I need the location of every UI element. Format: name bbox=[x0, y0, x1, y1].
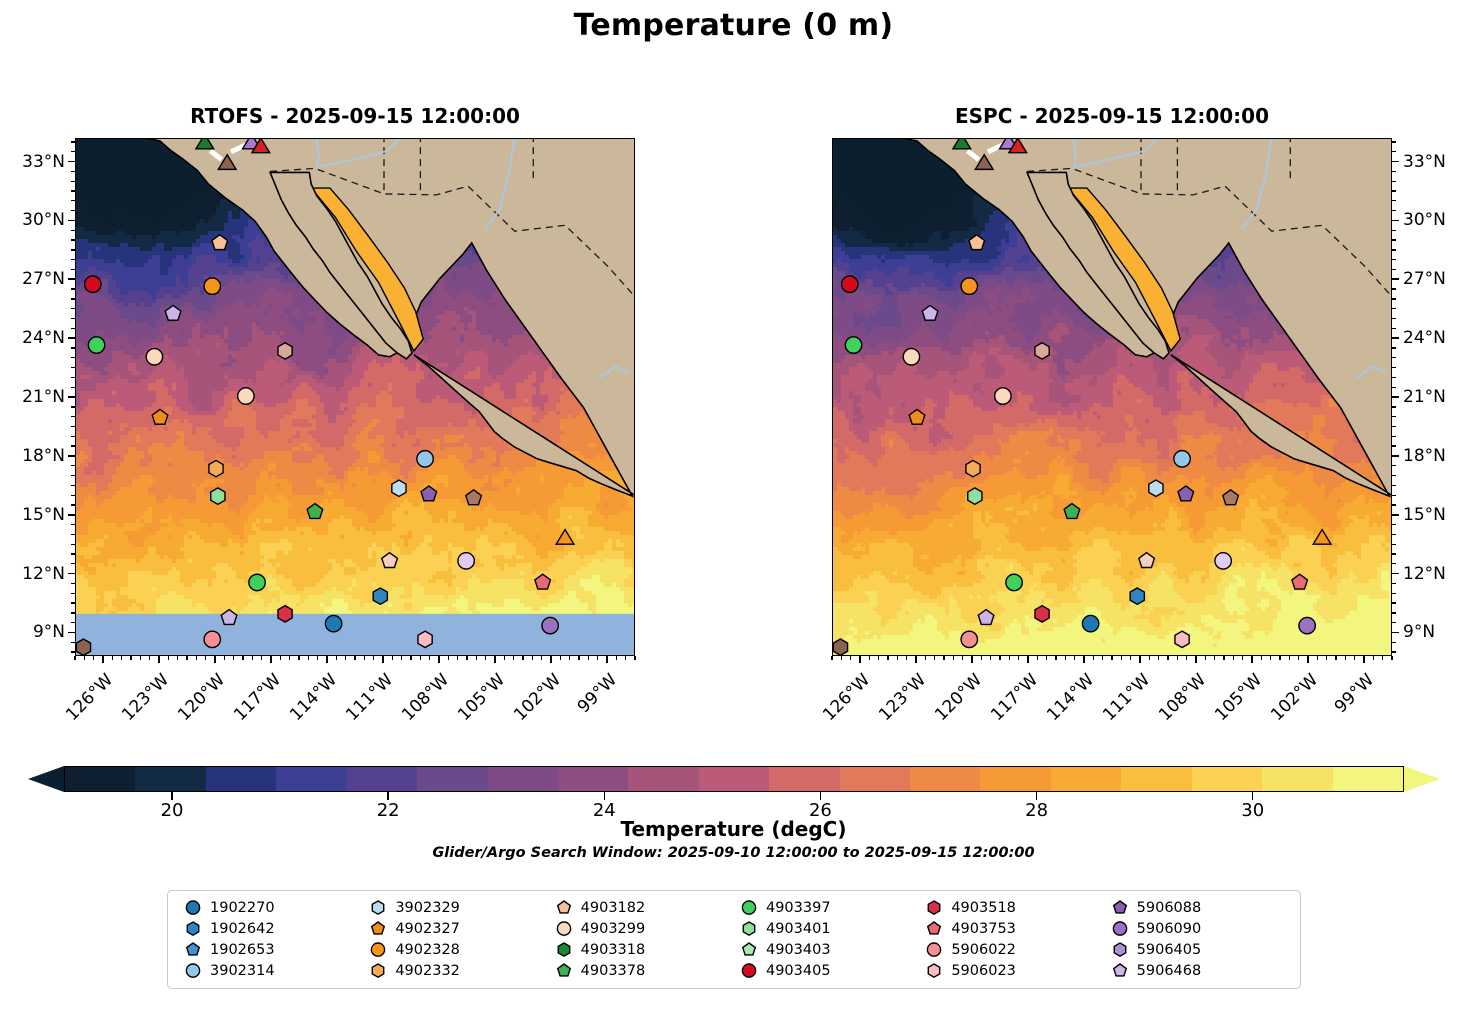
y-tick-label-left-1: 30°N bbox=[0, 210, 65, 230]
map-marker[interactable] bbox=[88, 337, 104, 353]
map-marker[interactable] bbox=[392, 480, 406, 496]
legend-item-5906023[interactable]: 5906023 bbox=[919, 961, 1104, 980]
tick-mark bbox=[71, 210, 75, 211]
tick-mark bbox=[1392, 357, 1396, 358]
tick-mark bbox=[1392, 328, 1396, 329]
map-marker[interactable] bbox=[1175, 631, 1189, 647]
colorbar-segment-11 bbox=[840, 767, 910, 791]
x-tick-label-left-2: 120°W bbox=[174, 670, 229, 725]
tick-mark bbox=[71, 553, 75, 554]
legend-label: 4903753 bbox=[949, 921, 1016, 937]
tick-mark bbox=[71, 288, 75, 289]
tick-mark bbox=[102, 656, 104, 663]
tick-mark bbox=[68, 632, 75, 634]
legend-label: 4902328 bbox=[393, 942, 460, 958]
x-tick-label-right-8: 102°W bbox=[1267, 670, 1322, 725]
tick-mark bbox=[336, 656, 337, 660]
tick-mark bbox=[1392, 553, 1396, 554]
tick-mark bbox=[71, 583, 75, 584]
tick-mark bbox=[457, 656, 458, 660]
figure-title: Temperature (0 m) bbox=[0, 8, 1467, 43]
legend-item-4903318[interactable]: 4903318 bbox=[549, 940, 734, 959]
legend-item-4903378[interactable]: 4903378 bbox=[549, 961, 734, 980]
colorbar-segment-18 bbox=[1333, 767, 1403, 791]
tick-mark bbox=[1392, 220, 1399, 222]
tick-mark bbox=[1242, 656, 1243, 660]
legend-marker-icon bbox=[1105, 919, 1135, 938]
tick-mark bbox=[71, 436, 75, 437]
tick-mark bbox=[429, 656, 430, 660]
colorbar-segment-15 bbox=[1121, 767, 1191, 791]
legend-item-4902332[interactable]: 4902332 bbox=[363, 961, 548, 980]
tick-mark bbox=[71, 651, 75, 652]
tick-mark bbox=[1392, 465, 1396, 466]
legend-label: 1902642 bbox=[208, 921, 275, 937]
tick-mark bbox=[541, 656, 542, 660]
map-marker[interactable] bbox=[209, 460, 223, 476]
map-marker[interactable] bbox=[845, 337, 861, 353]
tick-mark bbox=[196, 656, 197, 660]
legend-item-5906090[interactable]: 5906090 bbox=[1105, 919, 1290, 938]
tick-mark bbox=[1392, 651, 1396, 652]
y-tick-label-left-2: 27°N bbox=[0, 269, 65, 289]
legend-marker-icon bbox=[549, 961, 579, 980]
tick-mark bbox=[1392, 475, 1396, 476]
tick-mark bbox=[578, 656, 579, 660]
map-panel-espc[interactable] bbox=[832, 138, 1392, 656]
colorbar-segment-0 bbox=[65, 767, 135, 791]
legend-marker-icon bbox=[178, 940, 208, 959]
tick-mark bbox=[71, 151, 75, 152]
tick-mark bbox=[68, 396, 75, 398]
tick-mark bbox=[186, 656, 187, 660]
legend-item-4903397[interactable]: 4903397 bbox=[734, 898, 919, 917]
map-marker[interactable] bbox=[1174, 451, 1190, 467]
tick-mark bbox=[71, 328, 75, 329]
tick-mark bbox=[71, 298, 75, 299]
x-tick-label-right-5: 111°W bbox=[1099, 670, 1154, 725]
tick-mark bbox=[869, 656, 870, 660]
tick-mark bbox=[1354, 656, 1355, 660]
tick-mark bbox=[177, 656, 178, 660]
legend-item-1902270[interactable]: 1902270 bbox=[178, 898, 363, 917]
legend-marker-icon bbox=[363, 898, 393, 917]
tick-mark bbox=[485, 656, 486, 660]
tick-mark bbox=[1392, 141, 1396, 142]
colorbar-segment-3 bbox=[276, 767, 346, 791]
tick-mark bbox=[915, 656, 917, 663]
tick-mark bbox=[1392, 612, 1396, 613]
tick-mark bbox=[1139, 656, 1141, 663]
tick-mark bbox=[71, 200, 75, 201]
legend-label: 4903299 bbox=[579, 921, 646, 937]
y-tick-label-right-0: 33°N bbox=[1403, 152, 1446, 172]
legend-item-1902642[interactable]: 1902642 bbox=[178, 919, 363, 938]
tick-mark bbox=[308, 656, 309, 660]
tick-mark bbox=[1392, 622, 1396, 623]
legend-label: 4902332 bbox=[393, 963, 460, 979]
tick-mark bbox=[1167, 656, 1168, 660]
map-marker[interactable] bbox=[325, 615, 341, 631]
tick-mark bbox=[93, 656, 94, 660]
legend-marker-icon bbox=[363, 919, 393, 938]
y-tick-label-right-6: 15°N bbox=[1403, 505, 1446, 525]
y-tick-label-left-7: 12°N bbox=[0, 564, 65, 584]
tick-mark bbox=[981, 656, 982, 660]
map-marker[interactable] bbox=[204, 278, 220, 294]
legend-marker-icon bbox=[178, 919, 208, 938]
colorbar-segment-1 bbox=[135, 767, 205, 791]
tick-mark bbox=[588, 656, 589, 660]
tick-mark bbox=[71, 642, 75, 643]
colorbar-tick bbox=[387, 792, 389, 800]
tick-mark bbox=[71, 445, 75, 446]
tick-mark bbox=[71, 534, 75, 535]
tick-mark bbox=[1392, 455, 1399, 457]
tick-mark bbox=[354, 656, 355, 660]
x-tick-label-right-7: 105°W bbox=[1211, 670, 1266, 725]
tick-mark bbox=[71, 259, 75, 260]
tick-mark bbox=[71, 249, 75, 250]
x-tick-label-right-6: 108°W bbox=[1155, 670, 1210, 725]
legend-label: 5906088 bbox=[1135, 900, 1202, 916]
tick-mark bbox=[1392, 249, 1396, 250]
tick-mark bbox=[597, 656, 598, 660]
tick-mark bbox=[270, 656, 272, 663]
tick-mark bbox=[1195, 656, 1197, 663]
tick-mark bbox=[1261, 656, 1262, 660]
legend-item-4903299[interactable]: 4903299 bbox=[549, 919, 734, 938]
tick-mark bbox=[149, 656, 150, 660]
tick-mark bbox=[1363, 656, 1365, 663]
tick-mark bbox=[1392, 337, 1399, 339]
tick-mark bbox=[1298, 656, 1299, 660]
legend-label: 4902327 bbox=[393, 921, 460, 937]
x-tick-label-left-9: 99°W bbox=[566, 670, 621, 725]
colorbar-segment-12 bbox=[910, 767, 980, 791]
legend-item-4902328[interactable]: 4902328 bbox=[363, 940, 548, 959]
legend-marker-icon bbox=[363, 940, 393, 959]
tick-mark bbox=[71, 230, 75, 231]
legend-marker-icon bbox=[178, 961, 208, 980]
tick-mark bbox=[205, 656, 206, 660]
colorbar-segment-7 bbox=[558, 767, 628, 791]
y-tick-label-right-4: 21°N bbox=[1403, 387, 1446, 407]
legend-item-3902329[interactable]: 3902329 bbox=[363, 898, 548, 917]
tick-mark bbox=[1205, 656, 1206, 660]
x-tick-label-right-3: 117°W bbox=[987, 670, 1042, 725]
map-marker[interactable] bbox=[968, 488, 982, 504]
legend-label: 4903405 bbox=[764, 963, 831, 979]
map-marker[interactable] bbox=[1006, 574, 1022, 590]
legend-marker-icon bbox=[1105, 898, 1135, 917]
tick-mark bbox=[1392, 308, 1396, 309]
map-marker[interactable] bbox=[1299, 617, 1315, 633]
tick-mark bbox=[71, 406, 75, 407]
tick-mark bbox=[569, 656, 570, 660]
tick-mark bbox=[1373, 656, 1374, 660]
map-marker[interactable] bbox=[458, 553, 474, 569]
map-marker[interactable] bbox=[1082, 615, 1098, 631]
map-marker[interactable] bbox=[1035, 606, 1049, 622]
tick-mark bbox=[68, 514, 75, 516]
tick-mark bbox=[1335, 656, 1336, 660]
tick-mark bbox=[242, 656, 243, 660]
tick-mark bbox=[68, 573, 75, 575]
tick-mark bbox=[504, 656, 505, 660]
colorbar[interactable] bbox=[28, 766, 1440, 792]
legend-label: 1902653 bbox=[208, 942, 275, 958]
legend-label: 4903182 bbox=[579, 900, 646, 916]
y-tick-label-right-1: 30°N bbox=[1403, 210, 1446, 230]
panel-title-espc: ESPC - 2025-09-15 12:00:00 bbox=[832, 104, 1392, 128]
legend-item-4903518[interactable]: 4903518 bbox=[919, 898, 1104, 917]
tick-mark bbox=[1392, 534, 1396, 535]
map-marker[interactable] bbox=[842, 276, 858, 292]
tick-mark bbox=[1392, 495, 1396, 496]
map-marker[interactable] bbox=[542, 617, 558, 633]
legend-label: 4903378 bbox=[579, 963, 646, 979]
y-tick-label-left-0: 33°N bbox=[0, 152, 65, 172]
y-tick-label-left-8: 9°N bbox=[0, 622, 65, 642]
tick-mark bbox=[326, 656, 328, 663]
tick-mark bbox=[71, 387, 75, 388]
tick-mark bbox=[1392, 278, 1399, 280]
tick-mark bbox=[1289, 656, 1290, 660]
tick-mark bbox=[71, 171, 75, 172]
tick-mark bbox=[971, 656, 973, 663]
legend-item-4903403[interactable]: 4903403 bbox=[734, 940, 919, 959]
x-tick-label-left-1: 123°W bbox=[118, 670, 173, 725]
tick-mark bbox=[466, 656, 467, 660]
tick-mark bbox=[1392, 544, 1396, 545]
tick-mark bbox=[831, 656, 832, 660]
legend-label: 4903518 bbox=[949, 900, 1016, 916]
x-tick-label-left-3: 117°W bbox=[230, 670, 285, 725]
marker-legend[interactable]: 1902270390232949031824903397490351859060… bbox=[167, 890, 1301, 989]
tick-mark bbox=[392, 656, 393, 660]
legend-item-4903401[interactable]: 4903401 bbox=[734, 919, 919, 938]
y-tick-label-left-5: 18°N bbox=[0, 446, 65, 466]
tick-mark bbox=[925, 656, 926, 660]
map-panel-rtofs[interactable] bbox=[75, 138, 635, 656]
tick-mark bbox=[71, 475, 75, 476]
tick-mark bbox=[1392, 406, 1396, 407]
legend-label: 5906022 bbox=[949, 942, 1016, 958]
tick-mark bbox=[410, 656, 411, 660]
legend-marker-icon bbox=[734, 898, 764, 917]
tick-mark bbox=[1074, 656, 1075, 660]
y-tick-label-left-4: 21°N bbox=[0, 387, 65, 407]
tick-mark bbox=[1317, 656, 1318, 660]
legend-marker-icon bbox=[919, 961, 949, 980]
map-marker[interactable] bbox=[85, 276, 101, 292]
map-marker[interactable] bbox=[278, 606, 292, 622]
tick-mark bbox=[1055, 656, 1056, 660]
legend-marker-icon bbox=[734, 961, 764, 980]
colorbar-caption: Glider/Argo Search Window: 2025-09-10 12… bbox=[0, 845, 1467, 861]
legend-label: 5906405 bbox=[1135, 942, 1202, 958]
tick-mark bbox=[1392, 563, 1396, 564]
y-tick-label-right-8: 9°N bbox=[1403, 622, 1435, 642]
tick-mark bbox=[943, 656, 944, 660]
x-tick-label-right-1: 123°W bbox=[875, 670, 930, 725]
legend-item-5906022[interactable]: 5906022 bbox=[919, 940, 1104, 959]
tick-mark bbox=[906, 656, 907, 660]
colorbar-segment-8 bbox=[628, 767, 698, 791]
tick-mark bbox=[494, 656, 496, 663]
colorbar-segment-16 bbox=[1192, 767, 1262, 791]
tick-mark bbox=[68, 455, 75, 457]
map-marker[interactable] bbox=[1149, 480, 1163, 496]
tick-mark bbox=[71, 544, 75, 545]
tick-mark bbox=[1149, 656, 1150, 660]
y-tick-label-left-3: 24°N bbox=[0, 328, 65, 348]
legend-label: 4903397 bbox=[764, 900, 831, 916]
map-marker[interactable] bbox=[211, 488, 225, 504]
legend-item-4902327[interactable]: 4902327 bbox=[363, 919, 548, 938]
y-tick-label-right-5: 18°N bbox=[1403, 446, 1446, 466]
tick-mark bbox=[897, 656, 898, 660]
legend-marker-icon bbox=[178, 898, 208, 917]
tick-mark bbox=[252, 656, 253, 660]
map-marker[interactable] bbox=[249, 574, 265, 590]
map-marker[interactable] bbox=[1215, 553, 1231, 569]
map-marker[interactable] bbox=[961, 278, 977, 294]
legend-item-4903405[interactable]: 4903405 bbox=[734, 961, 919, 980]
tick-mark bbox=[382, 656, 384, 663]
legend-marker-icon bbox=[1105, 940, 1135, 959]
tick-mark bbox=[1392, 396, 1399, 398]
tick-mark bbox=[130, 656, 131, 660]
map-marker[interactable] bbox=[966, 460, 980, 476]
tick-mark bbox=[1392, 288, 1396, 289]
tick-mark bbox=[625, 656, 626, 660]
tick-mark bbox=[1382, 656, 1383, 660]
colorbar-segment-4 bbox=[347, 767, 417, 791]
tick-mark bbox=[841, 656, 842, 660]
legend-marker-icon bbox=[919, 940, 949, 959]
tick-mark bbox=[1392, 171, 1396, 172]
map-marker[interactable] bbox=[146, 349, 162, 365]
y-tick-label-right-7: 12°N bbox=[1403, 564, 1446, 584]
tick-mark bbox=[1270, 656, 1271, 660]
legend-item-5906088[interactable]: 5906088 bbox=[1105, 898, 1290, 917]
tick-mark bbox=[71, 602, 75, 603]
map-marker[interactable] bbox=[1130, 588, 1144, 604]
y-tick-label-left-6: 15°N bbox=[0, 505, 65, 525]
tick-mark bbox=[1233, 656, 1234, 660]
tick-mark bbox=[71, 416, 75, 417]
tick-mark bbox=[112, 656, 113, 660]
colorbar-segment-13 bbox=[980, 767, 1050, 791]
figure-canvas: Temperature (0 m) RTOFS - 2025-09-15 12:… bbox=[0, 0, 1467, 1014]
tick-mark bbox=[522, 656, 523, 660]
colorbar-over-arrow bbox=[1404, 766, 1440, 792]
tick-mark bbox=[71, 347, 75, 348]
map-marker[interactable] bbox=[903, 349, 919, 365]
tick-mark bbox=[550, 656, 552, 663]
map-marker[interactable] bbox=[373, 588, 387, 604]
tick-mark bbox=[71, 318, 75, 319]
tick-mark bbox=[1392, 642, 1396, 643]
colorbar-segment-2 bbox=[206, 767, 276, 791]
tick-mark bbox=[1279, 656, 1280, 660]
legend-item-4903753[interactable]: 4903753 bbox=[919, 919, 1104, 938]
tick-mark bbox=[1392, 514, 1399, 516]
map-marker[interactable] bbox=[995, 388, 1011, 404]
map-marker[interactable] bbox=[961, 631, 977, 647]
map-field-left bbox=[76, 139, 635, 656]
tick-mark bbox=[1392, 269, 1396, 270]
map-marker[interactable] bbox=[1035, 343, 1049, 359]
tick-mark bbox=[1251, 656, 1253, 663]
legend-item-5906468[interactable]: 5906468 bbox=[1105, 961, 1290, 980]
tick-mark bbox=[1121, 656, 1122, 660]
legend-marker-icon bbox=[734, 919, 764, 938]
legend-label: 4903401 bbox=[764, 921, 831, 937]
legend-item-3902314[interactable]: 3902314 bbox=[178, 961, 363, 980]
tick-mark bbox=[71, 141, 75, 142]
tick-mark bbox=[1392, 151, 1396, 152]
tick-mark bbox=[999, 656, 1000, 660]
colorbar-gradient bbox=[64, 766, 1404, 792]
map-marker[interactable] bbox=[238, 388, 254, 404]
tick-mark bbox=[1392, 367, 1396, 368]
legend-marker-icon bbox=[919, 898, 949, 917]
tick-mark bbox=[438, 656, 440, 663]
y-tick-label-right-2: 27°N bbox=[1403, 269, 1446, 289]
map-marker[interactable] bbox=[76, 639, 90, 655]
tick-mark bbox=[373, 656, 374, 660]
tick-mark bbox=[634, 656, 635, 660]
legend-marker-icon bbox=[549, 898, 579, 917]
tick-mark bbox=[168, 656, 169, 660]
map-marker[interactable] bbox=[417, 451, 433, 467]
tick-mark bbox=[364, 656, 365, 660]
tick-mark bbox=[71, 504, 75, 505]
tick-mark bbox=[121, 656, 122, 660]
legend-item-4903182[interactable]: 4903182 bbox=[549, 898, 734, 917]
legend-label: 5906468 bbox=[1135, 963, 1202, 979]
tick-mark bbox=[401, 656, 402, 660]
map-marker[interactable] bbox=[204, 631, 220, 647]
x-tick-label-right-0: 126°W bbox=[819, 670, 874, 725]
x-tick-label-right-4: 114°W bbox=[1043, 670, 1098, 725]
tick-mark bbox=[1158, 656, 1159, 660]
colorbar-under-arrow bbox=[28, 766, 64, 792]
tick-mark bbox=[1307, 656, 1309, 663]
tick-mark bbox=[1392, 239, 1396, 240]
tick-mark bbox=[68, 220, 75, 222]
tick-mark bbox=[1102, 656, 1103, 660]
map-marker[interactable] bbox=[418, 631, 432, 647]
legend-label: 5906090 bbox=[1135, 921, 1202, 937]
tick-mark bbox=[1083, 656, 1085, 663]
map-marker[interactable] bbox=[833, 639, 847, 655]
tick-mark bbox=[84, 656, 85, 660]
x-tick-label-left-5: 111°W bbox=[342, 670, 397, 725]
tick-mark bbox=[1392, 181, 1396, 182]
map-marker[interactable] bbox=[278, 343, 292, 359]
tick-mark bbox=[71, 308, 75, 309]
legend-item-5906405[interactable]: 5906405 bbox=[1105, 940, 1290, 959]
tick-mark bbox=[1177, 656, 1178, 660]
legend-item-1902653[interactable]: 1902653 bbox=[178, 940, 363, 959]
tick-mark bbox=[71, 622, 75, 623]
tick-mark bbox=[224, 656, 225, 660]
legend-label: 3902329 bbox=[393, 900, 460, 916]
